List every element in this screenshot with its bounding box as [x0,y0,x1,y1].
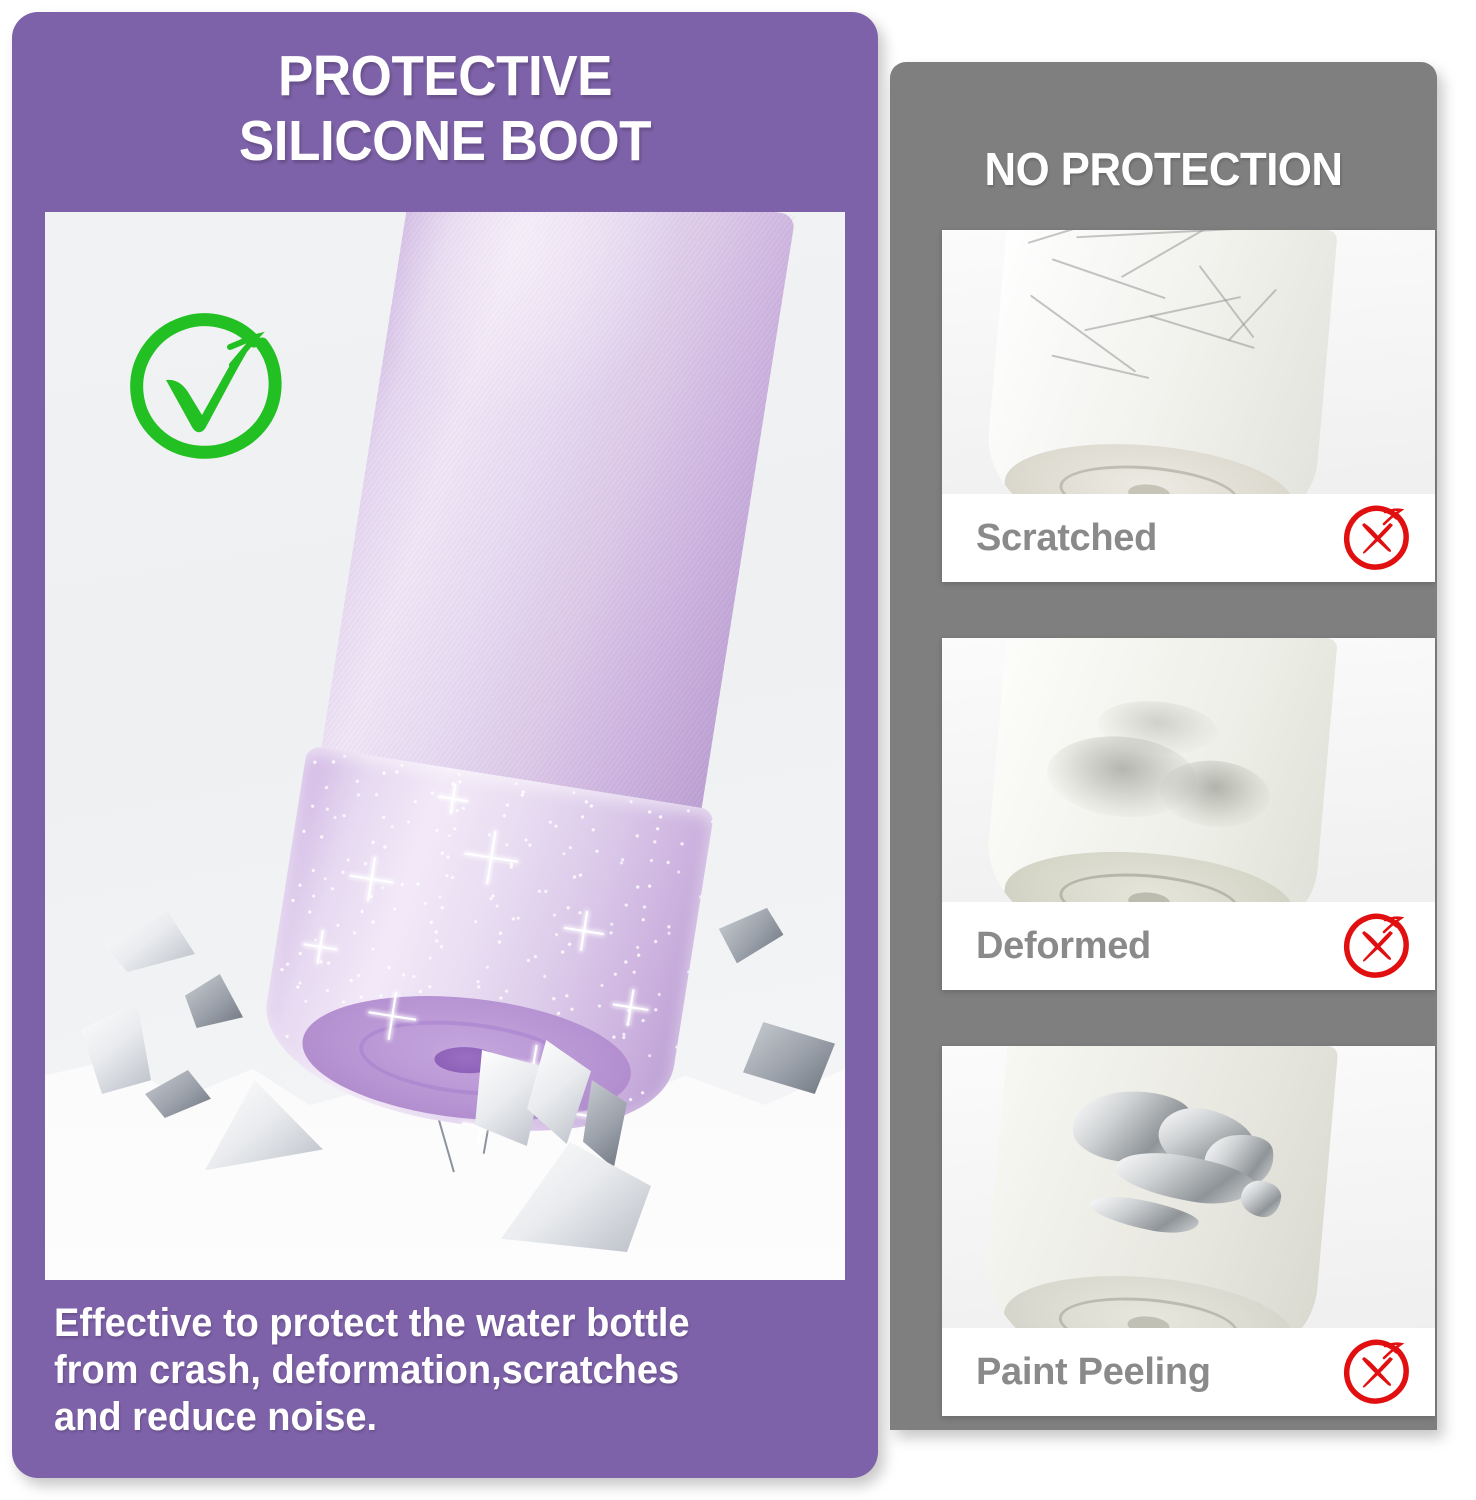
protective-panel-caption: Effective to protect the water bottle fr… [54,1300,805,1442]
no-protection-panel-title: NO PROTECTION [904,142,1424,196]
damage-card-label: Scratched [976,517,1157,560]
damage-card: Deformed [942,638,1435,990]
boot-base [296,981,637,1135]
green-check-circle-icon [120,307,295,467]
protective-panel: PROTECTIVE SILICONE BOOT [12,12,878,1478]
damage-card-label: Paint Peeling [976,1351,1211,1394]
infographic-stage: PROTECTIVE SILICONE BOOT [0,0,1476,1500]
protective-panel-title: PROTECTIVE SILICONE BOOT [42,44,847,174]
red-x-circle-icon [1341,502,1413,574]
damage-card-footer: Paint Peeling [942,1328,1435,1416]
protective-bottle-photo [45,212,845,1280]
red-x-circle-icon [1341,1336,1413,1408]
red-x-circle-icon [1341,910,1413,982]
damage-card: Paint Peeling [942,1046,1435,1416]
bottle-body [318,212,795,828]
damage-card-footer: Deformed [942,902,1435,990]
debris-shard [105,912,195,972]
no-protection-panel: NO PROTECTION [890,62,1437,1430]
damage-card-label: Deformed [976,925,1151,968]
damage-card-footer: Scratched [942,494,1435,582]
damage-card: Scratched [942,230,1435,582]
